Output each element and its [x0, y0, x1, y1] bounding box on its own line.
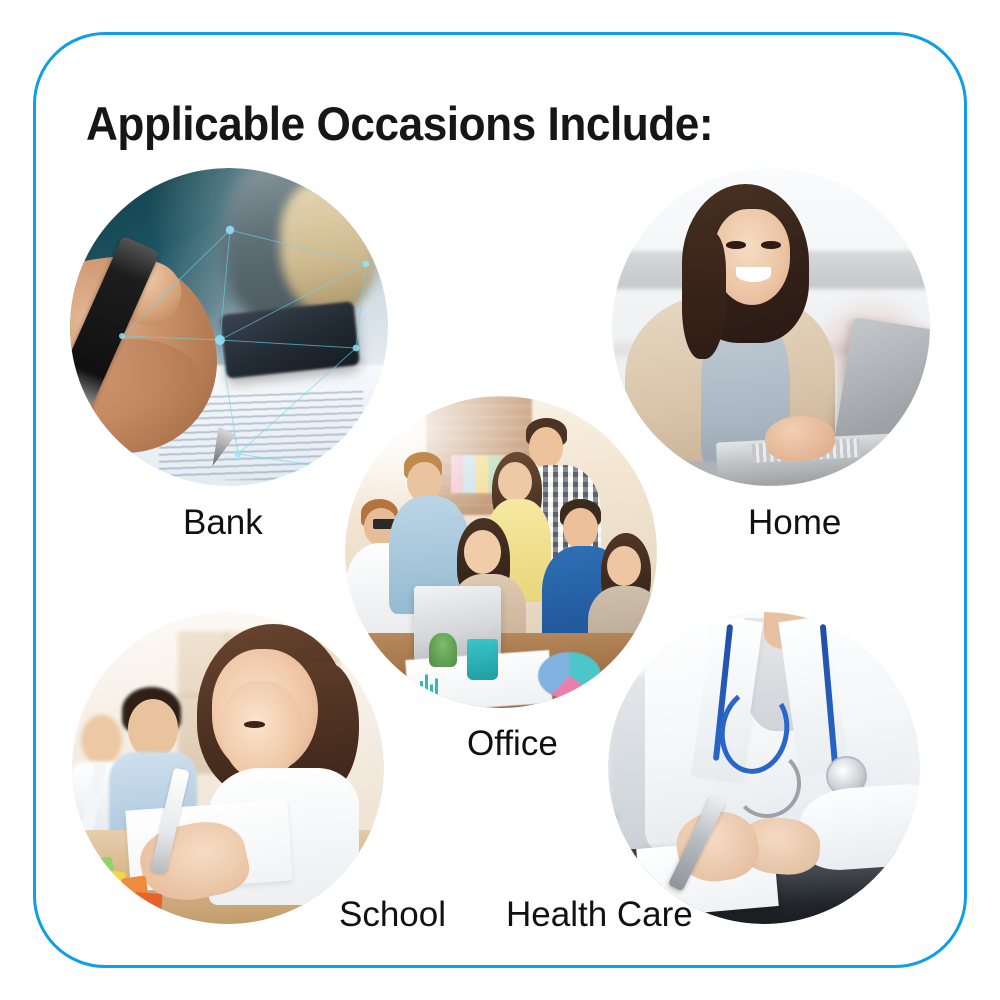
occasion-circle-bank — [70, 168, 388, 486]
occasion-label-home: Home — [748, 503, 841, 543]
occasion-label-health-care: Health Care — [506, 895, 693, 935]
office-person4-head — [498, 462, 532, 503]
home-hair-strand — [682, 232, 727, 359]
office-person6-head — [563, 508, 597, 549]
school-foam-letter-red — [134, 892, 163, 913]
office-bar-chart — [420, 671, 470, 696]
office-pen-cup — [467, 639, 498, 680]
office-person3-head — [464, 530, 501, 574]
health-care-photo — [608, 612, 920, 924]
occasion-label-office: Office — [467, 724, 558, 764]
bank-network-overlay — [70, 168, 388, 486]
home-photo — [612, 168, 930, 486]
infographic-page: Applicable Occasions Include: — [0, 0, 1000, 1000]
occasion-label-bank: Bank — [183, 503, 263, 543]
school-boy-head — [128, 699, 178, 758]
occasion-circle-health-care — [608, 612, 920, 924]
bank-photo — [70, 168, 388, 486]
occasion-circle-home — [612, 168, 930, 486]
page-title: Applicable Occasions Include: — [86, 96, 713, 151]
home-eye-left — [726, 241, 745, 249]
office-plant — [429, 633, 457, 667]
health-stethoscope-tube — [733, 749, 802, 818]
school-child-far-head — [81, 715, 122, 765]
occasion-label-school: School — [339, 895, 446, 935]
occasion-circle-school — [72, 612, 384, 924]
office-pie-chart — [538, 652, 600, 699]
school-photo — [72, 612, 384, 924]
home-eye-right — [761, 241, 780, 249]
